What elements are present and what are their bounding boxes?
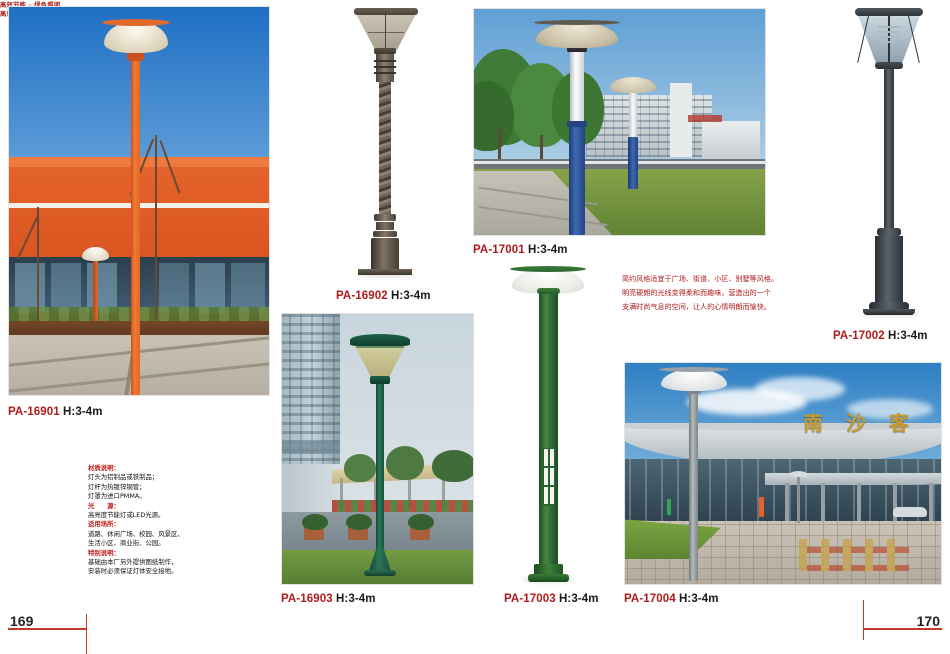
product-spec: H:3-4m <box>888 330 928 342</box>
product-photo-pa-16903 <box>281 313 474 585</box>
product-shot-pa-16902 <box>330 4 440 282</box>
caption-pa-17003: PA-17003 H:3-4m <box>504 593 599 605</box>
product-spec: H:3-4m <box>679 593 719 605</box>
spec-line: 特别说明： <box>88 549 184 558</box>
product-photo-pa-16901 <box>8 6 270 396</box>
product-shot-pa-17002 <box>835 4 943 322</box>
marketing-blurb-block: 简约风格适宜于广场、街道、小区、别墅等风格。 明亮硬朗的光线变得柔和而趣味，营造… <box>622 272 778 314</box>
product-code: PA-16901 <box>8 406 60 418</box>
product-code: PA-17002 <box>833 330 885 342</box>
product-spec: H:3-4m <box>528 244 568 256</box>
footer-divider-right <box>863 600 864 640</box>
spec-line: 生活小区、商业街、公园。 <box>88 539 184 548</box>
lamp-pole-pa-16902 <box>379 82 391 217</box>
spec-line: 材质说明： <box>88 464 184 473</box>
caption-pa-16902: PA-16902 H:3-4m <box>336 290 431 302</box>
caption-pa-16901: PA-16901 H:3-4m <box>8 406 103 418</box>
product-spec: H:3-4m <box>391 290 431 302</box>
spec-line: 灯杆为热镀锌钢管； <box>88 483 184 492</box>
lamp-pole-pa-17003 <box>539 290 558 572</box>
lamp-pole-pa-17001 <box>569 125 585 235</box>
product-code: PA-17001 <box>473 244 525 256</box>
lamp-pole-pa-16903 <box>376 382 384 558</box>
caption-pa-17004: PA-17004 H:3-4m <box>624 593 719 605</box>
product-code: PA-16903 <box>281 593 333 605</box>
spec-line: 灯罩为进口PMMA。 <box>88 492 184 501</box>
product-code: PA-17003 <box>504 593 556 605</box>
blurb-line: 明亮硬朗的光线变得柔和而趣味，营造出的一个 <box>622 286 778 300</box>
material-specifications-block: 材质说明： 灯头为铝制品或铁制品； 灯杆为热镀锌钢管； 灯罩为进口PMMA。 光… <box>88 464 184 577</box>
spec-line: 光 源： <box>88 502 184 511</box>
spec-line: 道路、休闲广场、校园、风景区、 <box>88 530 184 539</box>
product-spec: H:3-4m <box>559 593 599 605</box>
catalog-page-spread: PA-16901 H:3-4m 材质说明： 灯头为铝制品或铁制品； 灯杆为热镀锌… <box>0 0 950 654</box>
product-code: PA-16902 <box>336 290 388 302</box>
lamp-pole-pa-16901 <box>131 55 140 396</box>
building-sign-text: 南 沙 客 <box>803 407 935 435</box>
product-photo-pa-17001 <box>473 8 766 236</box>
lamp-pole-pa-17002 <box>884 69 894 229</box>
caption-pa-16903: PA-16903 H:3-4m <box>281 593 376 605</box>
spec-line: 灯头为铝制品或铁制品； <box>88 473 184 482</box>
footer-divider-left <box>86 614 87 654</box>
product-photo-pa-17004: 南 沙 客 <box>624 362 942 585</box>
spec-line: 适用场所： <box>88 520 184 529</box>
page-number-right: 170 <box>917 613 940 629</box>
caption-pa-17002: PA-17002 H:3-4m <box>833 330 928 342</box>
page-number-left: 169 <box>10 613 33 629</box>
blurb-line: 支满时尚气息的空间，让人的心情明朗而愉快。 <box>622 300 778 314</box>
caption-pa-17001: PA-17001 H:3-4m <box>473 244 568 256</box>
product-shot-pa-17003 <box>492 258 604 588</box>
lamp-pole-pa-17004 <box>689 391 698 581</box>
blurb-line: 简约风格适宜于广场、街道、小区、别墅等风格。 <box>622 272 778 286</box>
spec-line: 安装时必须保证灯体安全接地。 <box>88 567 184 576</box>
product-spec: H:3-4m <box>336 593 376 605</box>
product-spec: H:3-4m <box>63 406 103 418</box>
product-code: PA-17004 <box>624 593 676 605</box>
